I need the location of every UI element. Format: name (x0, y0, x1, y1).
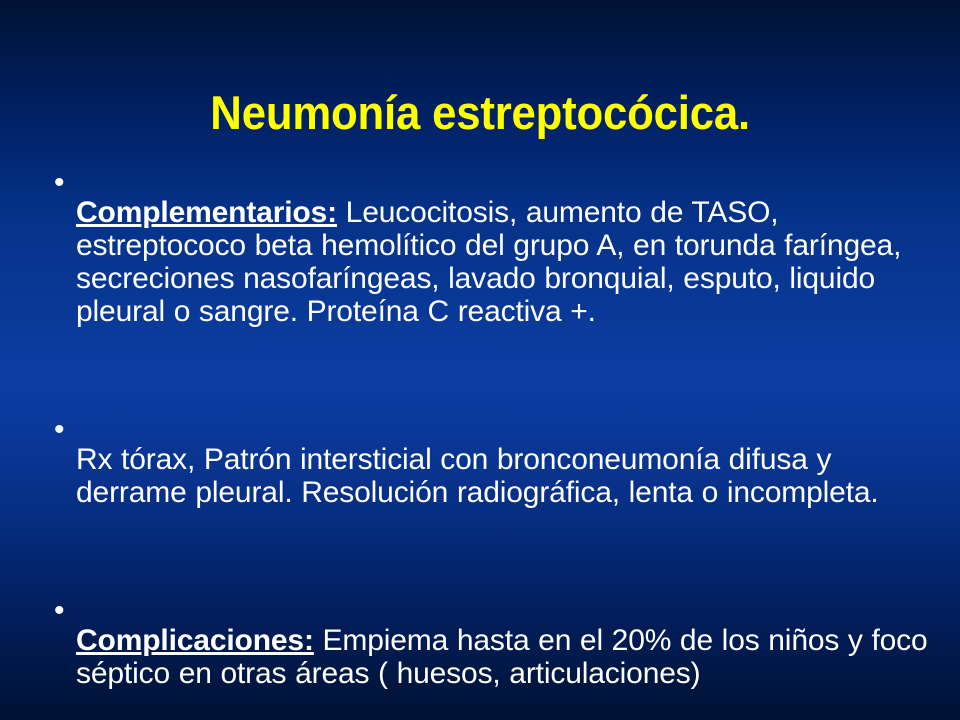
bullet-point-icon: • (42, 413, 76, 446)
slide-title-container: Neumonía estreptocócica. (0, 58, 960, 168)
bullet-point-icon: • (42, 594, 76, 627)
bullet-lead-term: Complicaciones: (76, 624, 314, 657)
bullet-item-complicaciones: • Complicaciones: Empiema hasta en el 20… (42, 594, 942, 720)
bullet-point-icon: • (42, 166, 76, 199)
presentation-slide: Neumonía estreptocócica. • Complementari… (0, 0, 960, 720)
bullet-item-rx-torax: • Rx tórax, Patrón intersticial con bron… (42, 413, 942, 539)
bullet-lead-term: Complementarios: (76, 196, 337, 229)
bullet-body-text: Rx tórax, Patrón intersticial con bronco… (76, 443, 879, 509)
bullet-item-complementarios: • Complementarios: Leucocitosis, aumento… (42, 166, 942, 358)
slide-body-content: • Complementarios: Leucocitosis, aumento… (42, 166, 942, 720)
bullet-text-complementarios: Complementarios: Leucocitosis, aumento d… (76, 196, 942, 328)
bullet-text-complicaciones: Complicaciones: Empiema hasta en el 20% … (76, 624, 942, 690)
slide-title: Neumonía estreptocócica. (210, 89, 750, 136)
bullet-text-rx-torax: Rx tórax, Patrón intersticial con bronco… (76, 443, 942, 509)
